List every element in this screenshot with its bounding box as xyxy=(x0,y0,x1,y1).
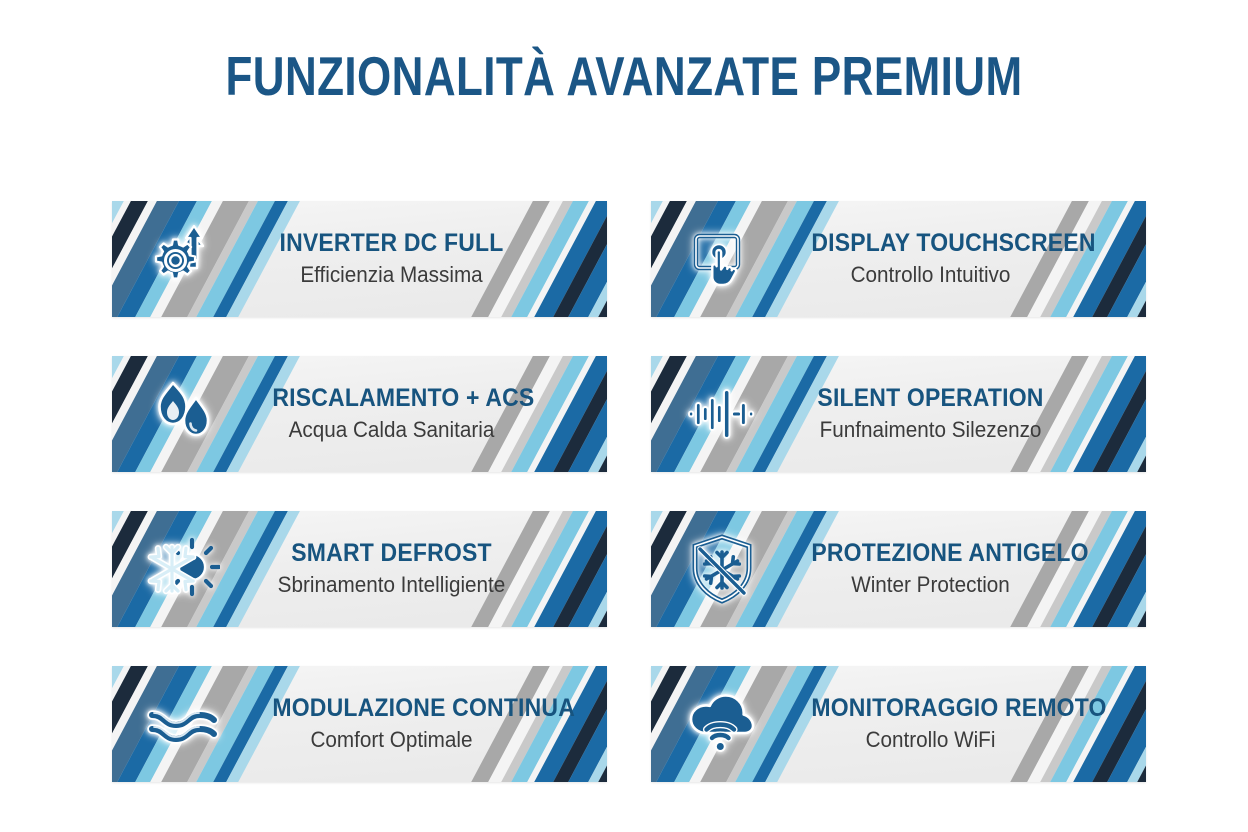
stripe xyxy=(1074,666,1146,782)
stripe xyxy=(651,666,686,782)
stripe xyxy=(1109,511,1146,627)
card-text-block: INVERTER DC FULLEfficienzia Massima xyxy=(262,228,521,290)
stripe xyxy=(112,201,140,317)
stripe xyxy=(1089,511,1146,627)
stripe xyxy=(1089,201,1146,317)
stripe xyxy=(550,201,607,317)
card-text-block: PROTEZIONE ANTIGELOWinter Protection xyxy=(801,538,1060,600)
stripe xyxy=(535,201,607,317)
gear-arrow-up-icon xyxy=(146,222,220,296)
card-title: MODULAZIONE CONTINUA xyxy=(272,693,510,723)
stripe xyxy=(112,511,147,627)
stripe xyxy=(1074,201,1146,317)
stripe xyxy=(580,356,607,472)
card-title: MONITORAGGIO REMOTO xyxy=(811,693,1049,723)
stripe xyxy=(550,666,607,782)
card-title: PROTEZIONE ANTIGELO xyxy=(811,538,1049,568)
audio-waveform-icon xyxy=(685,377,759,451)
touchscreen-hand-icon xyxy=(685,222,759,296)
stripe xyxy=(112,666,147,782)
stripe xyxy=(516,511,607,627)
stripe xyxy=(570,666,607,782)
card-subtitle: Sbrinamento Intelligiente xyxy=(270,570,513,600)
infographic-page: FUNZIONALITÀ AVANZATE PREMIUM INVERTER D… xyxy=(0,0,1248,832)
stripe xyxy=(1048,511,1146,627)
stripe xyxy=(1119,511,1146,627)
stripe xyxy=(1119,666,1146,782)
stripe xyxy=(1048,666,1146,782)
stripe xyxy=(580,666,607,782)
stripe xyxy=(570,356,607,472)
stripe xyxy=(651,356,686,472)
stripe xyxy=(1089,666,1146,782)
stripe xyxy=(112,356,147,472)
stripe xyxy=(651,511,686,627)
stripe xyxy=(516,356,607,472)
stripe xyxy=(509,356,607,472)
card-title: SMART DEFROST xyxy=(272,538,510,568)
stripe xyxy=(509,666,607,782)
card-subtitle: Comfort Optimale xyxy=(270,725,513,755)
stripe xyxy=(550,511,607,627)
stripe xyxy=(651,511,679,627)
feature-card[interactable]: MODULAZIONE CONTINUAComfort Optimale xyxy=(112,666,607,782)
card-text-block: DISPLAY TOUCHSCREENControllo Intuitivo xyxy=(801,228,1060,290)
stripe xyxy=(570,511,607,627)
stripe xyxy=(1089,356,1146,472)
stripe xyxy=(651,666,679,782)
stripe xyxy=(112,511,140,627)
stripe xyxy=(1119,356,1146,472)
stripe xyxy=(550,356,607,472)
stripe xyxy=(1119,201,1146,317)
stripe xyxy=(1074,356,1146,472)
stripe xyxy=(112,666,140,782)
stripe xyxy=(509,201,607,317)
feature-card[interactable]: MONITORAGGIO REMOTOControllo WiFi xyxy=(651,666,1146,782)
card-subtitle: Controllo Intuitivo xyxy=(809,260,1052,290)
stripe xyxy=(112,356,140,472)
stripe xyxy=(516,201,607,317)
stripe xyxy=(516,666,607,782)
stripe xyxy=(509,511,607,627)
card-title: RISCALAMENTO + ACS xyxy=(272,383,510,413)
stripe xyxy=(1055,666,1146,782)
stripe xyxy=(580,511,607,627)
stripe xyxy=(1055,356,1146,472)
stripe xyxy=(535,666,607,782)
card-subtitle: Efficienzia Massima xyxy=(270,260,513,290)
cloud-wifi-icon xyxy=(685,687,759,761)
card-subtitle: Winter Protection xyxy=(809,570,1052,600)
card-text-block: MODULAZIONE CONTINUAComfort Optimale xyxy=(262,693,521,755)
stripe xyxy=(1055,511,1146,627)
card-text-block: SILENT OPERATIONFunfnaimento Silezenzo xyxy=(801,383,1060,445)
stripe xyxy=(1109,201,1146,317)
page-title: FUNZIONALITÀ AVANZATE PREMIUM xyxy=(125,46,1123,106)
feature-card[interactable]: PROTEZIONE ANTIGELOWinter Protection xyxy=(651,511,1146,627)
stripe xyxy=(1048,356,1146,472)
airflow-waves-icon xyxy=(146,687,220,761)
stripe xyxy=(580,201,607,317)
card-title: DISPLAY TOUCHSCREEN xyxy=(811,228,1049,258)
stripe xyxy=(535,356,607,472)
stripe xyxy=(112,201,147,317)
feature-card[interactable]: SILENT OPERATIONFunfnaimento Silezenzo xyxy=(651,356,1146,472)
card-subtitle: Controllo WiFi xyxy=(809,725,1052,755)
card-text-block: SMART DEFROSTSbrinamento Intelligiente xyxy=(262,538,521,600)
feature-card[interactable]: SMART DEFROSTSbrinamento Intelligiente xyxy=(112,511,607,627)
feature-card[interactable]: DISPLAY TOUCHSCREENControllo Intuitivo xyxy=(651,201,1146,317)
card-text-block: MONITORAGGIO REMOTOControllo WiFi xyxy=(801,693,1060,755)
stripe xyxy=(1109,356,1146,472)
stripe xyxy=(535,511,607,627)
stripe xyxy=(1048,201,1146,317)
stripe xyxy=(651,201,679,317)
feature-cards-grid: INVERTER DC FULLEfficienzia Massima DISP… xyxy=(112,201,1136,782)
stripe xyxy=(1109,666,1146,782)
card-subtitle: Funfnaimento Silezenzo xyxy=(809,415,1052,445)
stripe xyxy=(1055,201,1146,317)
feature-card[interactable]: INVERTER DC FULLEfficienzia Massima xyxy=(112,201,607,317)
stripe xyxy=(570,201,607,317)
card-text-block: RISCALAMENTO + ACSAcqua Calda Sanitaria xyxy=(262,383,521,445)
card-title: INVERTER DC FULL xyxy=(272,228,510,258)
snowflake-sun-icon xyxy=(146,532,220,606)
stripe xyxy=(651,201,686,317)
card-title: SILENT OPERATION xyxy=(811,383,1049,413)
stripe xyxy=(1074,511,1146,627)
stripe xyxy=(651,356,679,472)
feature-card[interactable]: RISCALAMENTO + ACSAcqua Calda Sanitaria xyxy=(112,356,607,472)
shield-snowflake-icon xyxy=(685,532,759,606)
card-subtitle: Acqua Calda Sanitaria xyxy=(270,415,513,445)
flame-waterdrop-icon xyxy=(146,377,220,451)
